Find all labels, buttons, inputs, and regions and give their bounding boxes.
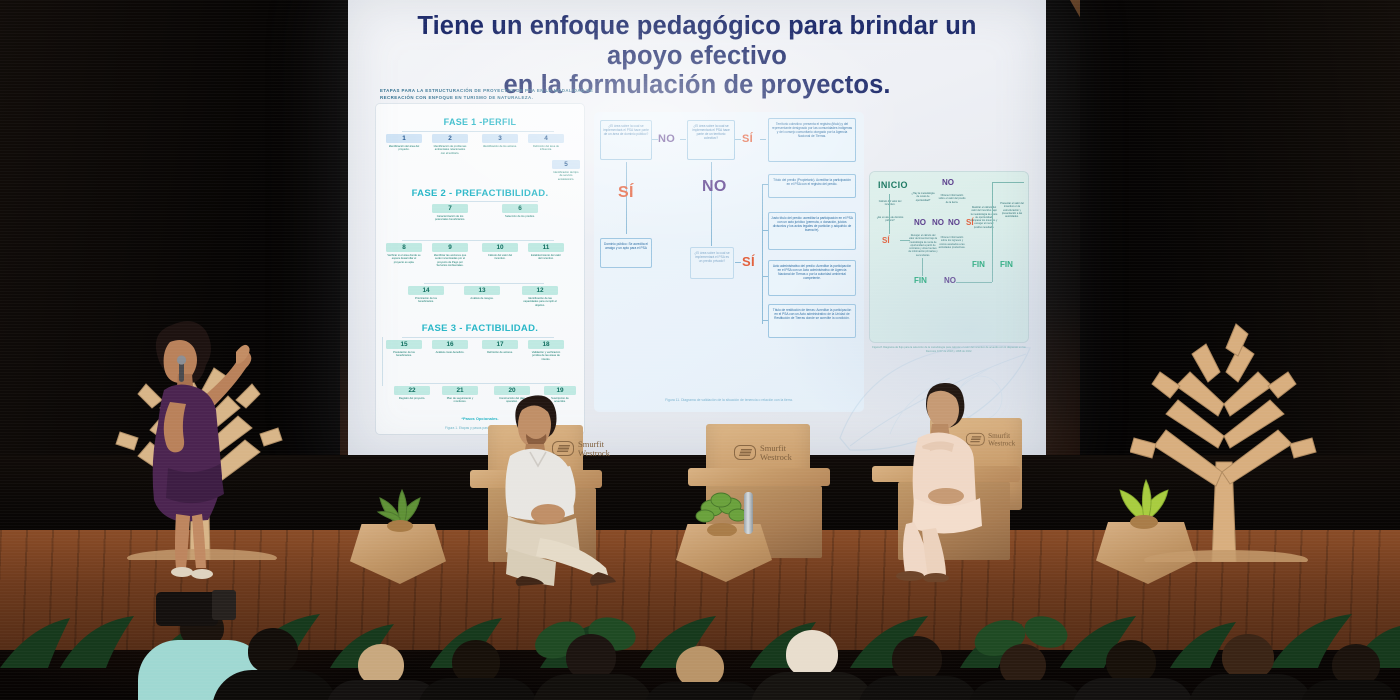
result-box-restitution: Título de restitución de tierras: Acredi… xyxy=(768,304,856,338)
step-number: 3 xyxy=(482,134,518,143)
step-box: 1 Identificación del área del proyecto. xyxy=(386,134,422,152)
decision-no-right-4: NO xyxy=(948,218,960,227)
step-box: 10 Cálculo del valor del incentivo. xyxy=(482,243,518,261)
step-text: Definición del área de influencia. xyxy=(528,145,564,152)
diagram-incentive-value: INICIO Cálculo del valor del incentivo. … xyxy=(870,172,1028,342)
step-text: Establecimiento del valor del incentivo. xyxy=(528,254,564,261)
audience-shoulders xyxy=(968,680,1084,700)
step-number: 15 xyxy=(386,340,422,349)
step-number: 14 xyxy=(408,286,444,295)
cardboard-tree-sculpture-right xyxy=(1130,312,1320,562)
step-text: Registro del proyecto. xyxy=(394,397,430,401)
step-box: 2 Identificación de problemas ambientale… xyxy=(432,134,468,155)
water-bottle xyxy=(744,492,753,534)
potted-plant-2 xyxy=(692,492,752,536)
sponsor-logo-chair-center: Smurfit Westrock xyxy=(734,444,792,462)
potted-plant-1 xyxy=(372,478,428,532)
result-box-public-domain: Dominio público: Se acredita el arraigo … xyxy=(600,238,652,268)
phase-label-2: FASE 2 - PREFACTIBILIDAD. xyxy=(376,188,584,199)
step-number: 4 xyxy=(528,134,564,143)
step-text: Selección de los predios. xyxy=(502,215,538,219)
smurfit-mark-icon xyxy=(966,433,985,446)
deck-section-header: ETAPAS PARA LA ESTRUCTURACIÓN DE PROYECT… xyxy=(380,88,610,102)
step-box: 8 Verificar si el área donde se espera d… xyxy=(386,243,422,264)
node-fin-2: FIN xyxy=(972,260,985,269)
decision-no-right-3: NO xyxy=(932,218,944,227)
step-number: 17 xyxy=(482,340,518,349)
step-text: Identificación de los actores. xyxy=(482,145,518,149)
step-box: 13 Análisis de riesgos. xyxy=(464,286,500,300)
audience-shoulders xyxy=(644,682,762,700)
audience-shoulders xyxy=(212,670,338,700)
node-text: ¿Hay la metodología de costo de oportuni… xyxy=(910,192,936,202)
step-text: Análisis costo-beneficio. xyxy=(432,351,468,355)
diagram-land-tenure: ¿El área sobre la cual se implementará e… xyxy=(594,112,864,412)
armrest-center xyxy=(688,468,830,486)
audience-head xyxy=(786,630,838,678)
audience-shoulders xyxy=(1188,674,1314,700)
step-box: 6 Selección de los predios. xyxy=(502,204,538,218)
node-text: Realizar el cálculo del valor del incent… xyxy=(970,206,998,229)
step-box: 14 Priorización de los beneficiarios. xyxy=(408,286,444,304)
step-number: 12 xyxy=(522,286,558,295)
question-box-collective-territory: ¿El área sobre la cual se implementará e… xyxy=(687,120,735,160)
node-text: Cálculo del valor del incentivo. xyxy=(876,200,904,207)
step-number: 13 xyxy=(464,286,500,295)
decision-si-2: SÍ xyxy=(618,184,634,202)
node-text: Presentar el valor del incentivo en la e… xyxy=(1000,202,1024,218)
step-number: 5 xyxy=(552,160,580,169)
step-number: 8 xyxy=(386,243,422,252)
decision-si-1: SÍ xyxy=(742,133,753,145)
conference-stage-photo: Tiene un enfoque pedagógico para brindar… xyxy=(0,0,1400,700)
step-box: 21 Plan de seguimiento y monitoreo. xyxy=(442,386,478,404)
decision-no-right-5: NO xyxy=(944,276,956,285)
step-text: Identificación de las capacidades para c… xyxy=(522,297,558,308)
step-text: Identificación del área del proyecto. xyxy=(386,145,422,152)
decision-si-right: SÍ xyxy=(882,236,890,245)
audience-shoulders xyxy=(750,672,876,700)
diagram-stages-psa: FASE 1 -PERFIL FASE 2 - PREFACTIBILIDAD.… xyxy=(376,104,584,434)
step-text: Análisis de riesgos. xyxy=(464,297,500,301)
step-number: 1 xyxy=(386,134,422,143)
step-text: Caracterización de los potenciales benef… xyxy=(432,215,468,222)
decision-si-3: SÍ xyxy=(742,254,755,269)
audience-head xyxy=(248,628,298,674)
result-box-admin-act: Acto administrativo del predio: Acredita… xyxy=(768,260,856,296)
decision-no-2: NO xyxy=(702,178,727,196)
node-text: ¿Es un área de dominio público? xyxy=(876,216,904,223)
step-number: 22 xyxy=(394,386,430,395)
step-box: 3 Identificación de los actores. xyxy=(482,134,518,148)
step-number: 6 xyxy=(502,204,538,213)
question-box-private-property: ¿El área sobre la cual se implementará e… xyxy=(690,247,734,279)
sponsor-name-line-2: Westrock xyxy=(988,440,1015,448)
step-number: 11 xyxy=(528,243,564,252)
step-number: 2 xyxy=(432,134,468,143)
step-box: 11 Establecimiento del valor del incenti… xyxy=(528,243,564,261)
node-text: Obtener información sobre el valor del p… xyxy=(938,194,966,204)
step-box: 12 Identificación de las capacidades par… xyxy=(522,286,558,307)
step-box: 15 Postulación de los beneficiarios. xyxy=(386,340,422,358)
seated-panelist-female xyxy=(888,372,1018,582)
phase-label-1: FASE 1 -PERFIL xyxy=(376,117,584,127)
audience-shoulders xyxy=(1072,678,1194,700)
audience-shoulders xyxy=(1300,680,1400,700)
node-text: Obtener información sobre los ingresos y… xyxy=(938,236,966,249)
step-box: 17 Definición de actores. xyxy=(482,340,518,354)
step-text: Identificación del tipo de servicio ecos… xyxy=(552,171,580,182)
step-box: 22 Registro del proyecto. xyxy=(394,386,430,400)
step-box: 9 Identificar las acciones que serán inc… xyxy=(432,243,468,268)
video-camera xyxy=(156,592,218,626)
node-fin-1: FIN xyxy=(914,276,927,285)
question-box-public-domain: ¿El área sobre la cual se implementará e… xyxy=(600,120,652,160)
step-text: Verificar si el área donde se espera des… xyxy=(386,254,422,265)
step-number: 16 xyxy=(432,340,468,349)
sponsor-logo-chair-right: Smurfit Westrock xyxy=(966,432,1015,447)
step-box: 4 Definición del área de influencia. xyxy=(528,134,564,152)
step-box: 5 Identificación del tipo de servicio ec… xyxy=(552,160,580,181)
step-text: Priorización de los beneficiarios. xyxy=(408,297,444,304)
step-text: Validación y verificación jurídica de la… xyxy=(528,351,564,362)
camera-lens-icon xyxy=(212,590,236,620)
step-text: Identificación de problemas ambientales … xyxy=(432,145,468,156)
node-text: Recoger el cálculo del valor del incenti… xyxy=(908,234,938,257)
step-text: Identificar las acciones que serán incen… xyxy=(432,254,468,269)
step-box: 18 Validación y verificación jurídica de… xyxy=(528,340,564,361)
step-text: Plan de seguimiento y monitoreo. xyxy=(442,397,478,404)
step-text: Postulación de los beneficiarios. xyxy=(386,351,422,358)
step-number: 9 xyxy=(432,243,468,252)
result-box-owner-title: Título del predio (Propietario). Acredit… xyxy=(768,174,856,198)
decision-no-right-1: NO xyxy=(914,218,926,227)
seated-panelist-male xyxy=(486,386,626,586)
decision-no-1: NO xyxy=(658,133,675,145)
step-number: 10 xyxy=(482,243,518,252)
node-fin-3: FIN xyxy=(1000,260,1013,269)
result-box-joint-title: Justo título del predio: acreditar la pa… xyxy=(768,212,856,250)
step-text: Definición de actores. xyxy=(482,351,518,355)
smurfit-mark-icon xyxy=(734,445,756,460)
audience-row xyxy=(0,600,1400,700)
standing-presenter xyxy=(120,318,270,598)
step-box: 7 Caracterización de los potenciales ben… xyxy=(432,204,468,222)
step-text: Cálculo del valor del incentivo. xyxy=(482,254,518,261)
step-box: 16 Análisis costo-beneficio. xyxy=(432,340,468,354)
phase-label-3: FASE 3 - FACTIBILIDAD. xyxy=(376,323,584,334)
node-inicio: INICIO xyxy=(878,180,908,190)
decision-no-right-2: NO xyxy=(942,178,954,187)
audience-shoulders xyxy=(858,676,980,700)
figure-caption-middle: Figura 11. Diagrama de validación de la … xyxy=(594,398,864,402)
audience-shoulders xyxy=(418,678,538,700)
sponsor-name-line-2: Westrock xyxy=(760,453,792,462)
audience-shoulders xyxy=(532,674,654,700)
step-number: 18 xyxy=(528,340,564,349)
slide-title-line-1: Tiene un enfoque pedagógico para brindar… xyxy=(378,12,1016,71)
step-number: 7 xyxy=(432,204,468,213)
result-box-collective: Territorio colectivo: presenta el regist… xyxy=(768,118,856,162)
step-number: 21 xyxy=(442,386,478,395)
